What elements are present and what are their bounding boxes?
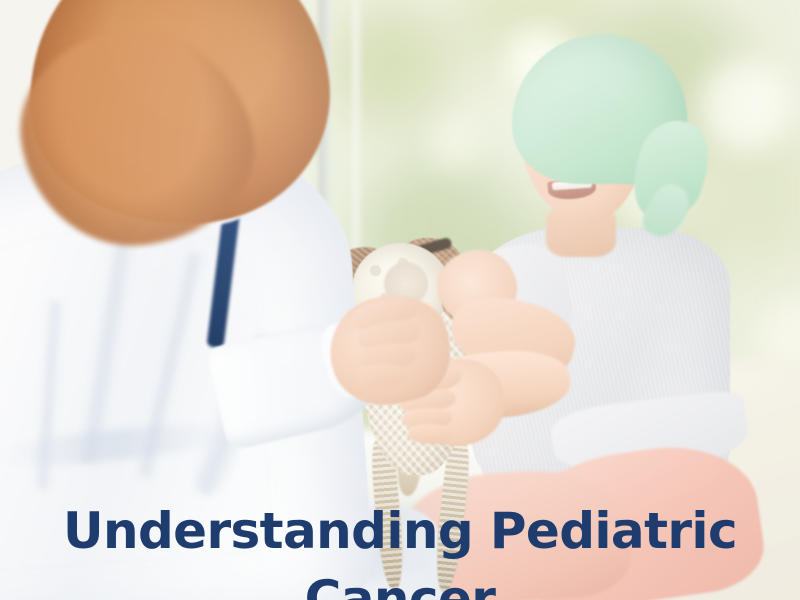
child-finger: [408, 423, 453, 445]
image-canvas: Understanding Pediatric Cancer: [0, 0, 800, 600]
doctor-finger: [358, 363, 407, 388]
photograph: [0, 0, 800, 600]
bokeh-highlight: [700, 60, 790, 150]
bokeh-highlight: [430, 120, 480, 170]
